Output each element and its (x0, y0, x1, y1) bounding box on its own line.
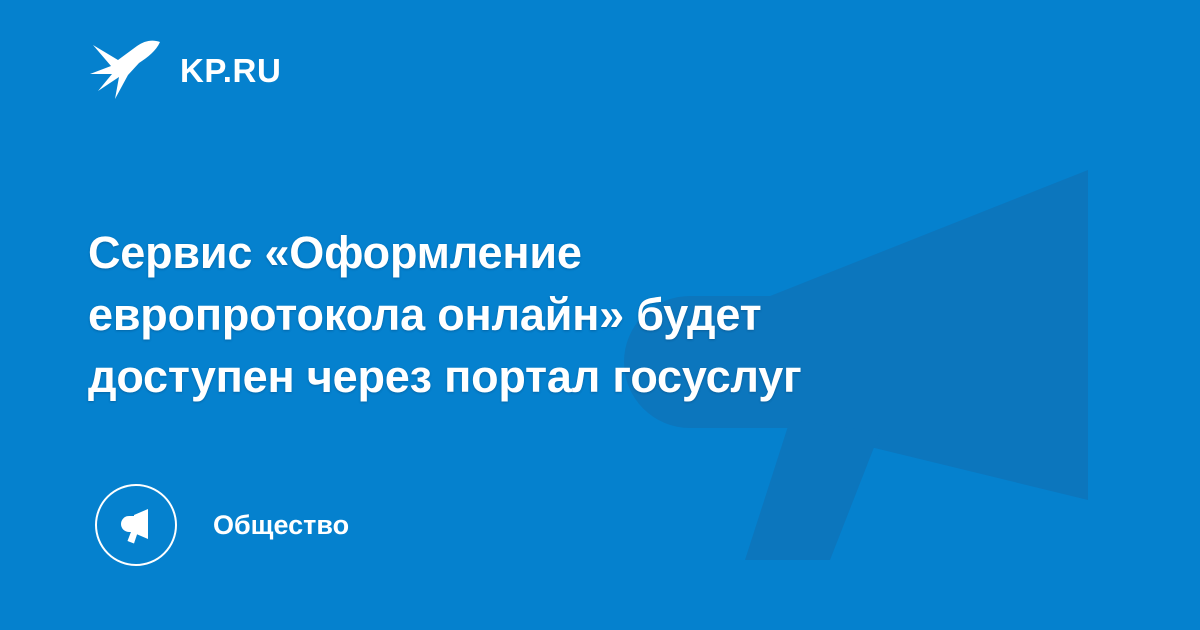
headline-line-3: доступен через портал госуслуг (88, 346, 1098, 408)
brand-name: KP.RU (180, 54, 281, 87)
swallow-bird-icon (88, 33, 162, 107)
category-label: Общество (213, 512, 349, 539)
category-badge[interactable]: Общество (95, 484, 349, 566)
headline-line-1: Сервис «Оформление (88, 222, 1098, 284)
page-title: Сервис «Оформление европротокола онлайн»… (88, 222, 1098, 408)
headline-line-2: европротокола онлайн» будет (88, 284, 1098, 346)
megaphone-icon (115, 504, 157, 546)
brand-logo[interactable]: KP.RU (88, 30, 281, 110)
article-share-card: KP.RU Сервис «Оформление европротокола о… (0, 0, 1200, 630)
category-icon-circle (95, 484, 177, 566)
